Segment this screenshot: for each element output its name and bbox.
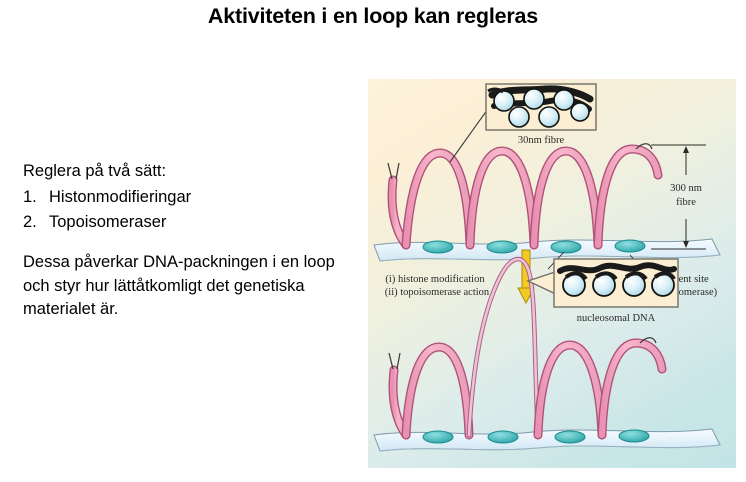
label-nucleosomal-dna: nucleosomal DNA	[577, 313, 656, 324]
label-step-ii: (ii) topoisomerase action	[385, 287, 490, 298]
chromatin-loops-top	[392, 149, 658, 245]
slide-canvas: Aktiviteten i en loop kan regleras Regle…	[0, 0, 746, 482]
label-300nm-line1: 300 nm	[670, 183, 702, 194]
page-title: Aktiviteten i en loop kan regleras	[0, 4, 746, 29]
label-30nm-fibre: 30nm fibre	[518, 135, 565, 146]
body-paragraph: Dessa påverkar DNA-packningen i en loop …	[23, 251, 348, 322]
label-step-i: (i) histone modification	[385, 274, 485, 285]
numbered-list: 1. Histonmodifieringar 2. Topoisomeraser	[23, 185, 343, 235]
label-300nm-line2: fibre	[676, 197, 696, 208]
dimension-300nm-fibre: 300 nm fibre	[651, 145, 706, 249]
callout-nucleosomal-dna: nucleosomal DNA	[528, 259, 678, 324]
list-item-number: 1.	[23, 185, 40, 210]
lead-text: Reglera på två sätt:	[23, 160, 343, 184]
chromatin-loop-figure: 30nm fibre 300 nm fibre scaffold or matr…	[368, 79, 736, 468]
transition-steps: (i) histone modification (ii) topoisomer…	[385, 274, 490, 298]
bullet-block: Reglera på två sätt: 1. Histonmodifierin…	[23, 160, 343, 235]
list-item: 2. Topoisomeraser	[23, 210, 343, 235]
list-item-label: Histonmodifieringar	[49, 185, 191, 210]
list-item: 1. Histonmodifieringar	[23, 185, 343, 210]
list-item-number: 2.	[23, 210, 40, 235]
list-item-label: Topoisomeraser	[49, 210, 166, 235]
